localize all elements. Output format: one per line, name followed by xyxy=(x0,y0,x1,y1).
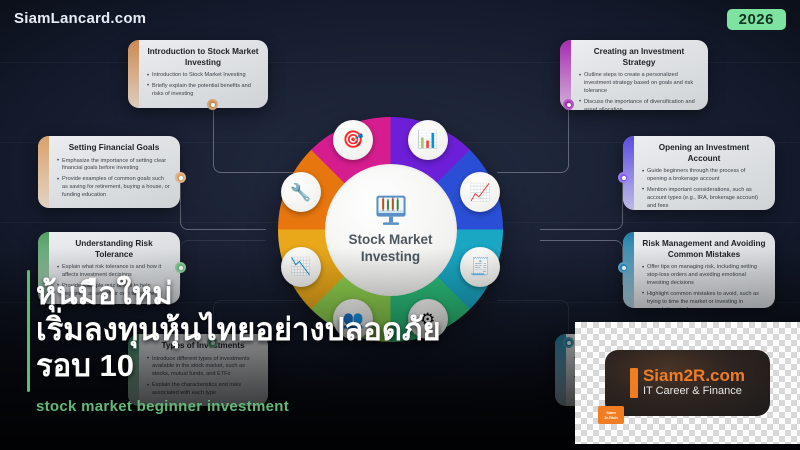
card-bullets: Offer tips on managing risk, including s… xyxy=(642,264,766,308)
connector-financial-goals xyxy=(180,178,266,230)
candlestick-monitor-icon xyxy=(371,194,411,228)
infographic-canvas: Stock Market Investing 📊📈🧾⚙👥📉🔧🎯 Introduc… xyxy=(0,0,800,450)
card-bullet: Provide examples of common goals such as… xyxy=(57,176,171,200)
node-opening-account[interactable] xyxy=(618,172,629,183)
card-bullets: Emphasize the importance of setting clea… xyxy=(57,158,171,201)
card-introduction[interactable]: Introduction to Stock Market Investing I… xyxy=(128,40,268,108)
card-bullet: Mention important considerations, such a… xyxy=(642,187,766,210)
hub-title: Stock Market Investing xyxy=(348,232,432,265)
card-bullets: Guide beginners through the process of o… xyxy=(642,168,766,210)
connector-strategy xyxy=(497,105,569,173)
watermark-corner-tag: Siam 2r.Rich xyxy=(598,406,624,424)
node-introduction[interactable] xyxy=(207,99,218,110)
card-bullets: Outline steps to create a personalized i… xyxy=(579,72,699,110)
card-bullet: Introduction to Stock Market Investing xyxy=(147,72,259,80)
card-bullet: Discuss the importance of diversificatio… xyxy=(579,99,699,110)
watermark-overlay: Siam2R.com IT Career & Finance Siam 2r.R… xyxy=(575,322,800,444)
card-title: Risk Management and Avoiding Common Mist… xyxy=(642,239,766,260)
card-strategy[interactable]: Creating an Investment Strategy Outline … xyxy=(560,40,708,110)
card-title: Opening an Investment Account xyxy=(642,143,766,164)
connector-opening-account xyxy=(540,178,623,230)
card-bullets: Introduction to Stock Market Investing B… xyxy=(147,72,259,99)
bar-chart-growth-icon[interactable]: 📊 xyxy=(408,120,448,160)
headline-accent-bar xyxy=(27,270,30,392)
card-bullet: Guide beginners through the process of o… xyxy=(642,168,766,184)
node-choosing-stocks[interactable] xyxy=(563,337,574,348)
site-brand: SiamLancard.com xyxy=(14,10,146,27)
thai-headline: หุ้นมือใหม่ เริ่มลงทุนหุ้นไทยอย่างปลอดภั… xyxy=(36,276,556,384)
card-financial-goals[interactable]: Setting Financial Goals Emphasize the im… xyxy=(38,136,180,208)
node-risk-tolerance[interactable] xyxy=(175,262,186,273)
card-opening-account[interactable]: Opening an Investment Account Guide begi… xyxy=(623,136,775,210)
card-bullet: Emphasize the importance of setting clea… xyxy=(57,158,171,174)
watermark-tagline: IT Career & Finance xyxy=(643,385,745,398)
card-bullet: Outline steps to create a personalized i… xyxy=(579,72,699,96)
card-bullet: Offer tips on managing risk, including s… xyxy=(642,264,766,288)
card-title: Setting Financial Goals xyxy=(57,143,171,154)
card-stripe xyxy=(128,40,139,108)
card-title: Understanding Risk Tolerance xyxy=(57,239,171,260)
card-bullet: Highlight common mistakes to avoid, such… xyxy=(642,291,766,308)
thai-subline: stock market beginner investment xyxy=(36,398,289,415)
watermark-name: Siam2R.com xyxy=(643,367,745,385)
card-title: Creating an Investment Strategy xyxy=(579,47,699,68)
watermark-logo-card[interactable]: Siam2R.com IT Career & Finance Siam 2r.R… xyxy=(605,350,770,416)
target-clock-icon[interactable]: 🎯 xyxy=(333,120,373,160)
card-bullet: Explain the characteristics and risks as… xyxy=(147,382,259,398)
settings-bar-chart-icon[interactable]: 🔧 xyxy=(281,172,321,212)
year-badge: 2026 xyxy=(727,9,786,30)
node-financial-goals[interactable] xyxy=(175,172,186,183)
watermark-bar-icon xyxy=(630,368,638,398)
card-risk-management[interactable]: Risk Management and Avoiding Common Mist… xyxy=(623,232,775,308)
node-strategy[interactable] xyxy=(563,99,574,110)
node-risk-management[interactable] xyxy=(618,262,629,273)
card-bullet: Briefly explain the potential benefits a… xyxy=(147,83,259,99)
card-stripe xyxy=(38,136,49,208)
card-title: Introduction to Stock Market Investing xyxy=(147,47,259,68)
